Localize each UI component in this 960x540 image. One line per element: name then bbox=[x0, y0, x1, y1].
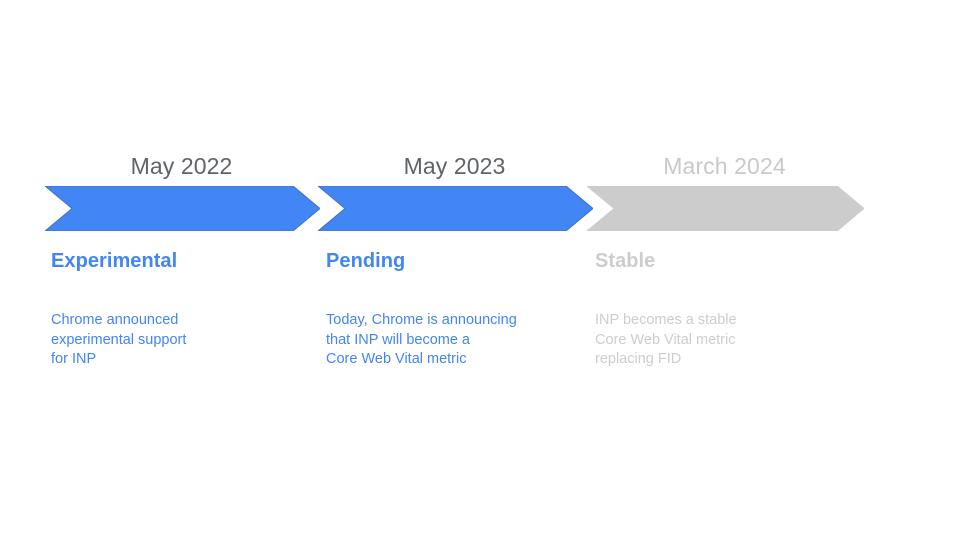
timeline-dates-row: May 2022 May 2023 March 2024 bbox=[0, 151, 960, 183]
stage-date-may-2023: May 2023 bbox=[318, 151, 591, 181]
timeline-diagram: May 2022 May 2023 March 2024 Experimenta… bbox=[0, 0, 960, 540]
timeline-columns: Experimental Chrome announced experiment… bbox=[0, 248, 960, 388]
stage-date-march-2024: March 2024 bbox=[587, 151, 862, 181]
chevron-arrow-stable bbox=[587, 186, 864, 231]
chevron-arrow-pending bbox=[318, 186, 593, 231]
stage-heading-stable: Stable bbox=[595, 248, 855, 274]
stage-body-pending: Today, Chrome is announcing that INP wil… bbox=[326, 311, 586, 370]
stage-heading-pending: Pending bbox=[326, 248, 586, 274]
stage-date-may-2022: May 2022 bbox=[45, 151, 318, 181]
timeline-stage-pending: Pending Today, Chrome is announcing that… bbox=[326, 248, 586, 370]
chevron-arrow-experimental bbox=[45, 186, 320, 231]
stage-heading-experimental: Experimental bbox=[51, 248, 311, 274]
timeline-stage-stable: Stable INP becomes a stable Core Web Vit… bbox=[595, 248, 855, 370]
timeline-arrows-row bbox=[0, 186, 960, 232]
stage-body-experimental: Chrome announced experimental support fo… bbox=[51, 311, 311, 370]
stage-body-stable: INP becomes a stable Core Web Vital metr… bbox=[595, 311, 855, 370]
timeline-stage-experimental: Experimental Chrome announced experiment… bbox=[51, 248, 311, 370]
